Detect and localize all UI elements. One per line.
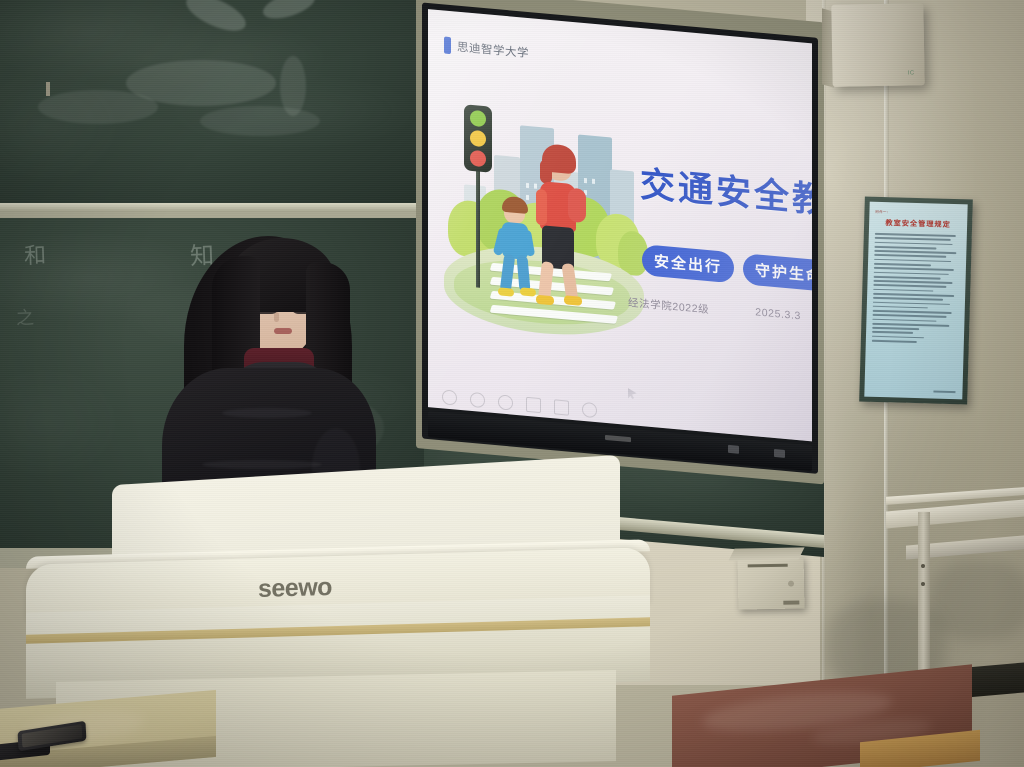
panel-knob-icon[interactable] (788, 581, 794, 587)
board-port-icon (728, 445, 739, 454)
apps-icon[interactable] (554, 399, 569, 415)
blackboard-upper (0, 0, 424, 208)
smart-board[interactable]: 思迪智学大学 (416, 0, 824, 484)
nose (274, 312, 279, 322)
wall-stain-2 (930, 560, 1024, 640)
slide-meta: 经法学院2022级 2025.3.3 (628, 295, 801, 325)
chalk-mark-4: 之 (16, 304, 35, 331)
wall-utility-panel[interactable] (738, 556, 805, 609)
speaker-brand-badge: IC (908, 70, 915, 76)
podium-brand-logo: seewo (258, 573, 332, 604)
notice-body-lines (872, 233, 961, 344)
pen-icon[interactable] (498, 394, 513, 410)
board-logo-icon (605, 435, 631, 442)
board-port-icon-2 (774, 449, 785, 458)
more-icon[interactable] (582, 402, 597, 418)
board-display[interactable]: 思迪智学大学 (428, 9, 812, 441)
classroom-notice-board: 附件一： 教室安全管理规定 (859, 197, 973, 405)
slide-brand-text: 思迪智学大学 (457, 38, 529, 60)
panel-label-tag (783, 601, 799, 605)
metal-shelf-leg (918, 512, 930, 690)
notice-signature (933, 391, 955, 394)
slide-date: 2025.3.3 (755, 306, 801, 325)
stop-icon[interactable] (526, 397, 541, 413)
speaker-mount-stem (46, 82, 50, 96)
pointer-cursor (628, 388, 637, 400)
notice-paper: 附件一： 教室安全管理规定 (864, 202, 967, 400)
classroom-photo-scene: 和 知 习 之 思迪智学大学 (0, 0, 1024, 767)
wall-speaker: IC (831, 3, 924, 87)
slide-brand: 思迪智学大学 (444, 36, 529, 61)
presentation-slide: 思迪智学大学 (428, 9, 812, 441)
slide-badges: 安全出行 守护生命 (642, 244, 812, 292)
panel-slot (748, 564, 788, 568)
slide-illustration (440, 80, 648, 349)
add-icon[interactable] (470, 392, 485, 408)
slide-title: 交通安全教育 (640, 156, 812, 227)
traffic-light-icon (464, 104, 492, 172)
back-icon[interactable] (442, 389, 457, 405)
chalk-mark: 和 (23, 238, 46, 271)
notice-kicker: 附件一： (875, 209, 961, 216)
panel-lid (728, 547, 804, 560)
badge-protect-life: 守护生命 (743, 253, 812, 292)
badge-safe-travel: 安全出行 (642, 244, 734, 283)
lips (274, 328, 292, 334)
notice-title: 教室安全管理规定 (875, 218, 961, 230)
brand-mark-icon (444, 36, 451, 54)
